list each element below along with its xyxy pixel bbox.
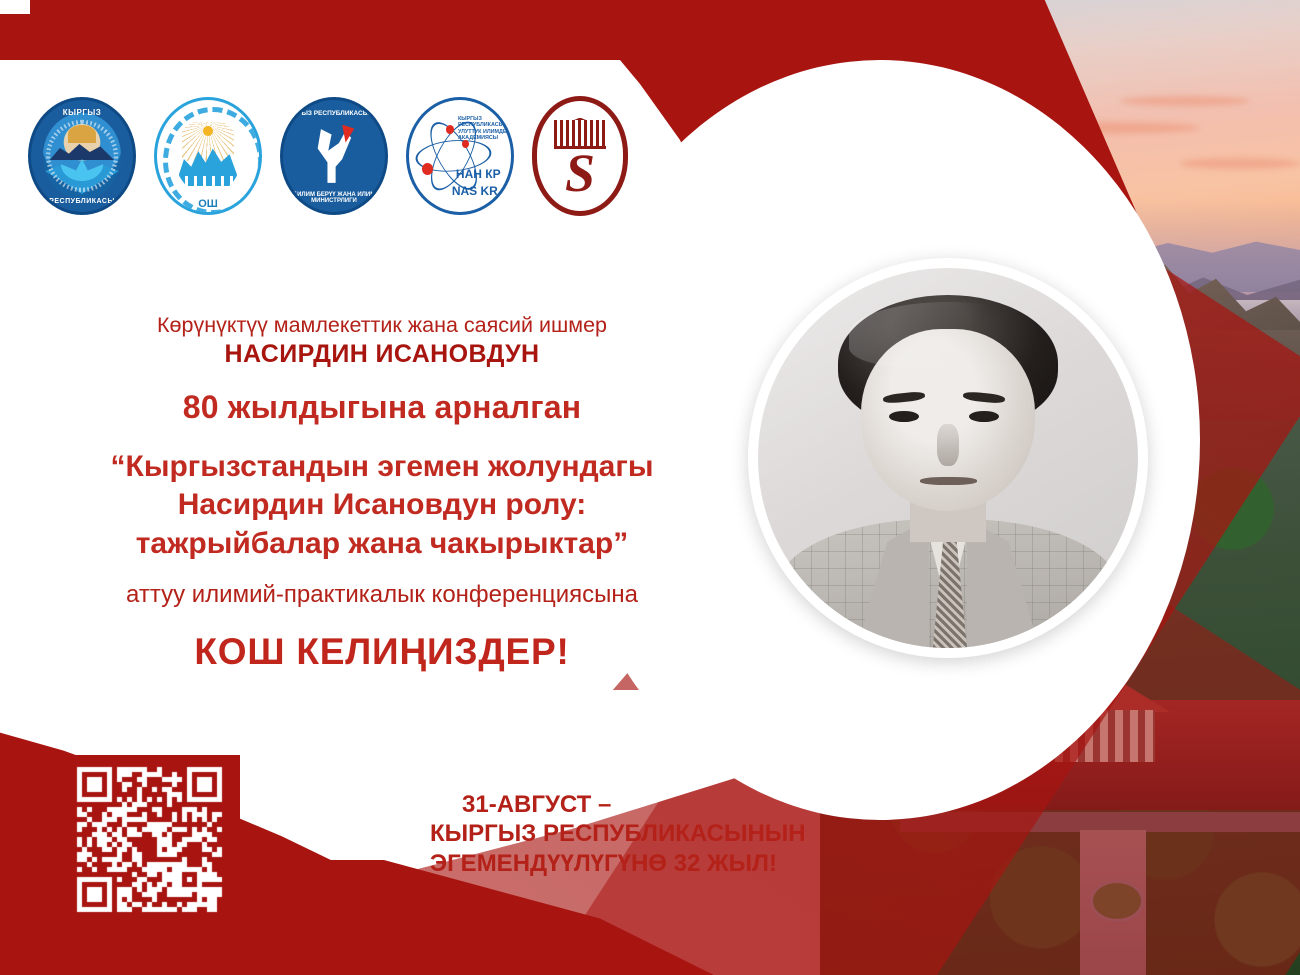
cloud-icon (1180, 158, 1300, 169)
osh-emblem-inner (175, 118, 240, 194)
honoree-subtitle: Көрүнүктүү мамлекеттик жана саясий ишмер (22, 312, 742, 339)
river-icon (179, 176, 236, 187)
eye-left (889, 411, 919, 422)
date-line1: 31-АВГУСТ – (430, 790, 860, 819)
conference-title: “Кыргызстандын эгемен жолундагы Насирдин… (22, 448, 742, 563)
portrait-frame (748, 258, 1148, 658)
ministry-of-education-emblem-icon: КЫРГЫЗ РЕСПУБЛИКАСЫНЫН БИЛИМ БЕРҮҮ ЖАНА … (280, 97, 388, 215)
anniversary-line: 80 жылдыгына арналган (22, 389, 742, 426)
honoree-name: НАСИРДИН ИСАНОВДУН (22, 340, 742, 369)
emblem-ministry-of-education: КЫРГЫЗ РЕСПУБЛИКАСЫНЫН БИЛИМ БЕРҮҮ ЖАНА … (280, 97, 388, 215)
conference-welcome-poster: КЫРГЫЗ РЕСПУБЛИКАСЫ ОШ КЫРГЫЗ РЕСПУБЛИКА… (0, 0, 1300, 975)
emblem-osh-city: ОШ (154, 97, 262, 215)
osh-state-university-emblem-icon: S (532, 96, 628, 216)
emblem-kg-bottom-text: РЕСПУБЛИКАСЫ (31, 198, 133, 205)
hair-highlight (849, 302, 1047, 367)
conference-qr-code[interactable] (60, 755, 240, 925)
university-name-line1: ОШ (694, 121, 845, 154)
emblem-kyrgyz-republic: КЫРГЫЗ РЕСПУБЛИКАСЫ (28, 97, 136, 215)
date-line3: ЭГЕМЕНДҮҮЛҮГҮНӨ 32 ЖЫЛ! (430, 849, 860, 878)
conference-title-line1: “Кыргызстандын эгемен жолундагы (22, 448, 742, 486)
qr-code-canvas[interactable] (60, 755, 240, 925)
main-text-block: Көрүнүктүү мамлекеттик жана саясий ишмер… (22, 312, 742, 673)
conference-kind: аттуу илимий-практикалык конференциясына (22, 581, 742, 609)
emblem-nas-abbr-cyrillic: НАН КР (456, 167, 501, 181)
logo-divider (652, 113, 656, 199)
emblem-nas-abbr-latin: NAS KR (452, 184, 498, 198)
independence-date-block: 31-АВГУСТ – КЫРГЫЗ РЕСПУБЛИКАСЫНЫН ЭГЕМЕ… (430, 790, 860, 878)
top-left-white-sliver (0, 0, 30, 14)
emblem-osh-state-university: S (532, 96, 628, 216)
cloud-icon (1120, 96, 1250, 106)
emblem-kg-top-text: КЫРГЫЗ (31, 108, 133, 117)
osh-city-emblem-icon: ОШ (154, 97, 262, 215)
welcome-headline: КОШ КЕЛИҢИЗДЕР! (22, 631, 742, 673)
emblem-ministry-bottom-text: БИЛИМ БЕРҮҮ ЖАНА ИЛИМ МИНИСТРЛИГИ (283, 192, 385, 204)
emblem-osh-label: ОШ (157, 198, 259, 210)
emblem-ministry-top-text: КЫРГЫЗ РЕСПУБЛИКАСЫНЫН (283, 110, 385, 117)
conference-title-line3: тажрыйбалар жана чакырыктар” (22, 525, 742, 563)
date-line2: КЫРГЫЗ РЕСПУБЛИКАСЫНЫН (430, 819, 860, 848)
kyrgyz-republic-coat-of-arms-icon: КЫРГЫЗ РЕСПУБЛИКАСЫ (28, 97, 136, 215)
university-name-line2: МАМЛЕКЕТТИК (694, 154, 845, 172)
eye-right (969, 411, 999, 422)
national-academy-of-sciences-emblem-icon: КЫРГЫЗ РЕСПУБЛИКАСЫНЫН УЛУТТУК ИЛИМДЕР А… (406, 97, 514, 215)
emblem-nas-ring-text: КЫРГЫЗ РЕСПУБЛИКАСЫНЫН УЛУТТУК ИЛИМДЕР А… (458, 116, 514, 142)
conference-title-line2: Насирдин Исановдун ролу: (22, 486, 742, 524)
mouth (920, 477, 977, 485)
university-name-line3: УНИВЕРСИТЕТИ (694, 172, 845, 190)
atom-electron-icon (446, 125, 454, 134)
wheat-ring-icon (33, 102, 131, 210)
nose (937, 424, 960, 466)
university-wordmark: ОШ МАМЛЕКЕТТИК УНИВЕРСИТЕТИ (694, 121, 845, 190)
osu-monogram: S (537, 146, 623, 200)
emblem-national-academy-of-sciences: КЫРГЫЗ РЕСПУБЛИКАСЫНЫН УЛУТТУК ИЛИМДЕР А… (406, 97, 514, 215)
nasirdin-isanov-portrait (758, 268, 1138, 648)
institution-logos-row: КЫРГЫЗ РЕСПУБЛИКАСЫ ОШ КЫРГЫЗ РЕСПУБЛИКА… (28, 96, 845, 216)
